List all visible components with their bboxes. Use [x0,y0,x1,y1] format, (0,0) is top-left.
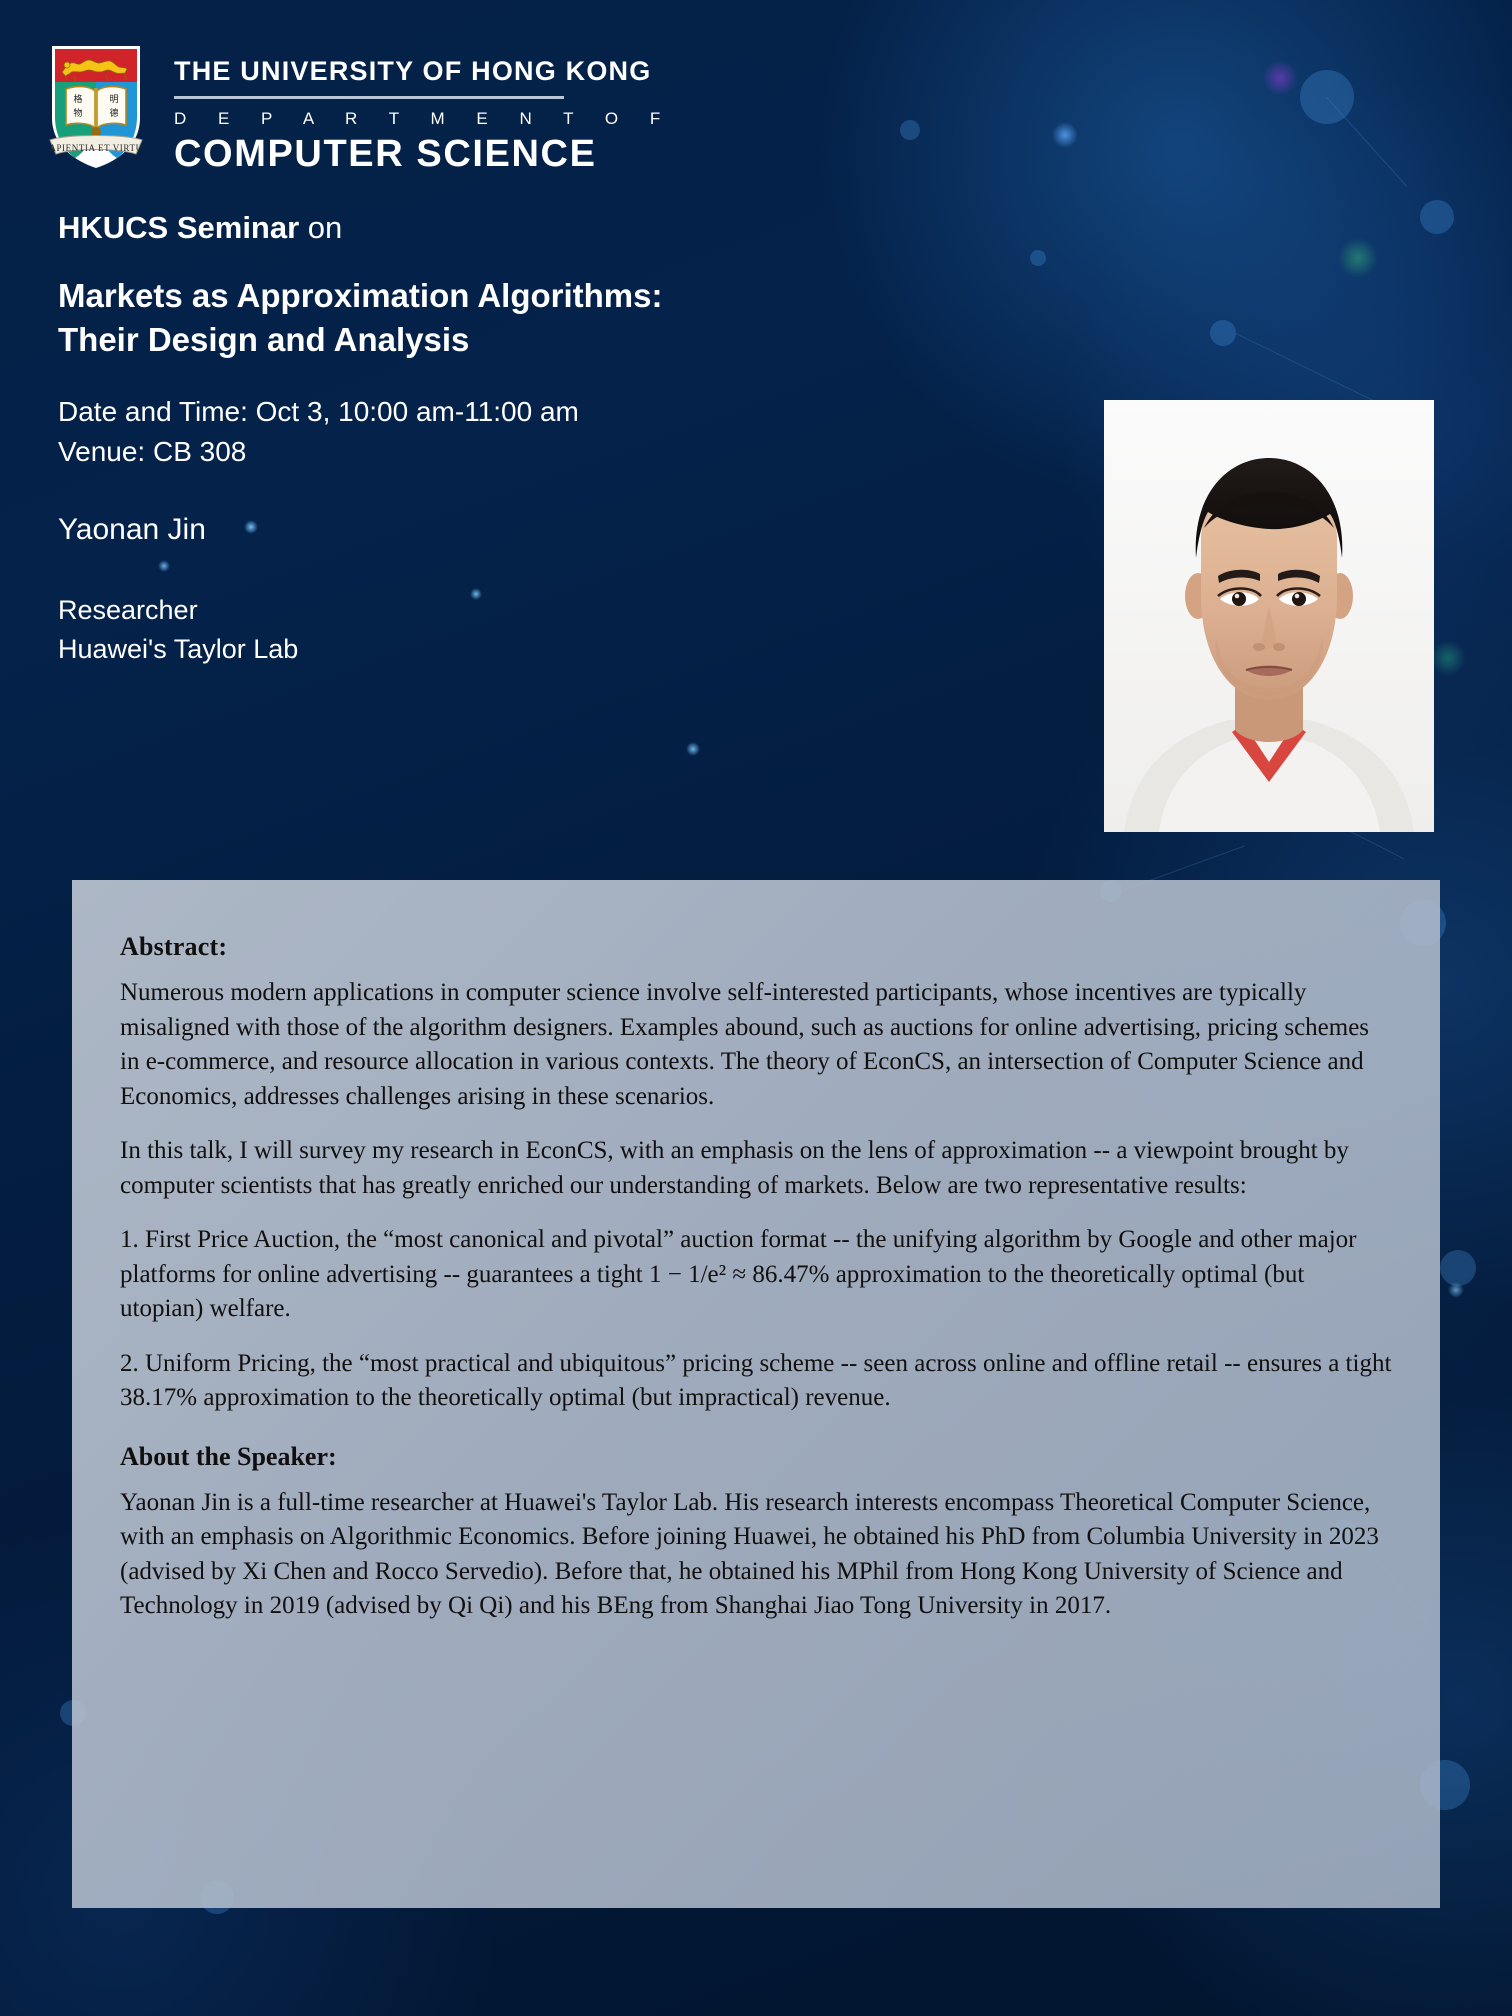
talk-title: Markets as Approximation Algorithms: The… [58,274,848,362]
about-speaker-heading: About the Speaker: [120,1442,1392,1472]
department-kicker: D E P A R T M E N T O F [174,109,674,129]
speaker-affiliation-block: Researcher Huawei's Taylor Lab [58,591,848,669]
speaker-photo [1104,400,1434,832]
result-1-formula: 1 − 1/e² ≈ 86.47% [649,1261,829,1288]
svg-text:格: 格 [73,93,82,105]
abstract-paragraph-3: 1. First Price Auction, the “most canoni… [120,1223,1392,1327]
seminar-poster: 格 物 明 德 SAPIENTIA ET VIRTUS THE UNIVERSI… [0,0,1512,2016]
hku-wordmark: THE UNIVERSITY OF HONG KONG D E P A R T … [174,44,674,176]
abstract-paragraph-4: 2. Uniform Pricing, the “most practical … [120,1347,1392,1416]
seminar-kicker: HKUCS Seminar on [58,210,848,246]
abstract-paragraph-2: In this talk, I will survey my research … [120,1134,1392,1203]
event-meta: Date and Time: Oct 3, 10:00 am-11:00 am … [58,392,848,472]
svg-text:SAPIENTIA ET VIRTUS: SAPIENTIA ET VIRTUS [48,143,144,153]
speaker-organisation: Huawei's Taylor Lab [58,630,848,669]
svg-text:明: 明 [109,94,118,105]
svg-text:物: 物 [73,107,82,119]
talk-title-line-2: Their Design and Analysis [58,318,848,362]
speaker-name: Yaonan Jin [58,513,848,547]
department-name: COMPUTER SCIENCE [174,133,674,176]
speaker-role: Researcher [58,591,848,630]
university-name: THE UNIVERSITY OF HONG KONG [174,56,674,87]
talk-title-line-1: Markets as Approximation Algorithms: [58,274,848,318]
speaker-portrait-image [1104,400,1434,832]
seminar-kicker-light: on [299,210,342,245]
hku-crest-logo: 格 物 明 德 SAPIENTIA ET VIRTUS [48,44,144,172]
abstract-panel: Abstract: Numerous modern applications i… [72,880,1440,1908]
abstract-paragraph-1: Numerous modern applications in computer… [120,976,1392,1114]
wordmark-divider [174,96,564,99]
venue: Venue: CB 308 [58,432,848,472]
about-speaker-body: Yaonan Jin is a full-time researcher at … [120,1486,1392,1624]
seminar-kicker-strong: HKUCS Seminar [58,210,299,245]
date-and-time: Date and Time: Oct 3, 10:00 am-11:00 am [58,392,848,432]
poster-header: 格 物 明 德 SAPIENTIA ET VIRTUS THE UNIVERSI… [48,44,674,176]
svg-text:德: 德 [109,107,118,119]
abstract-heading: Abstract: [120,932,1392,962]
seminar-details: HKUCS Seminar on Markets as Approximatio… [58,210,848,670]
